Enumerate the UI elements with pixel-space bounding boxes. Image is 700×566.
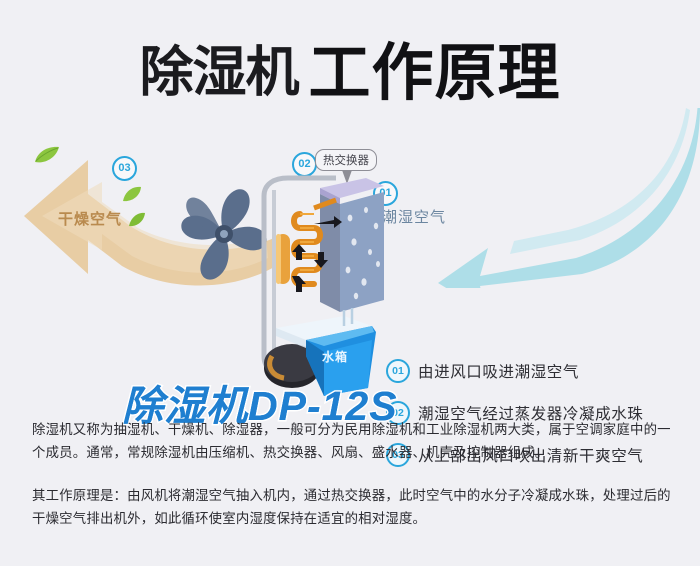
water-tank-label: 水箱 [322,348,348,365]
page-title-part1: 除湿机 [139,43,298,103]
leaf-icon [128,212,146,227]
diagram-badge-03: 03 [112,156,137,181]
leaf-icon [34,146,60,164]
list-item: 01 由进风口吸进潮湿空气 [386,360,686,382]
diagram-stage: 干燥空气 潮湿空气 03 02 01 热交换器 [0,108,700,400]
page-title-part2: 工作原理 [308,39,560,108]
body-copy: 除湿机又称为抽湿机、干燥机、除湿器，一般可分为民用除湿机和工业除湿机两大类，属于… [32,418,672,530]
leaf-icon [122,186,142,202]
dehumidifier-principle-infographic: 除湿机工作原理 干燥空气 潮湿空气 03 02 01 热交换器 [0,0,700,566]
step-text-01: 由进风口吸进潮湿空气 [418,360,579,382]
paragraph-1: 除湿机又称为抽湿机、干燥机、除湿器，一般可分为民用除湿机和工业除湿机两大类，属于… [32,418,672,464]
page-title: 除湿机工作原理 [0,22,700,112]
paragraph-2: 其工作原理是：由风机将潮湿空气抽入机内，通过热交换器，此时空气中的水分子冷凝成水… [32,484,672,530]
dry-air-label: 干燥空气 [58,208,122,229]
